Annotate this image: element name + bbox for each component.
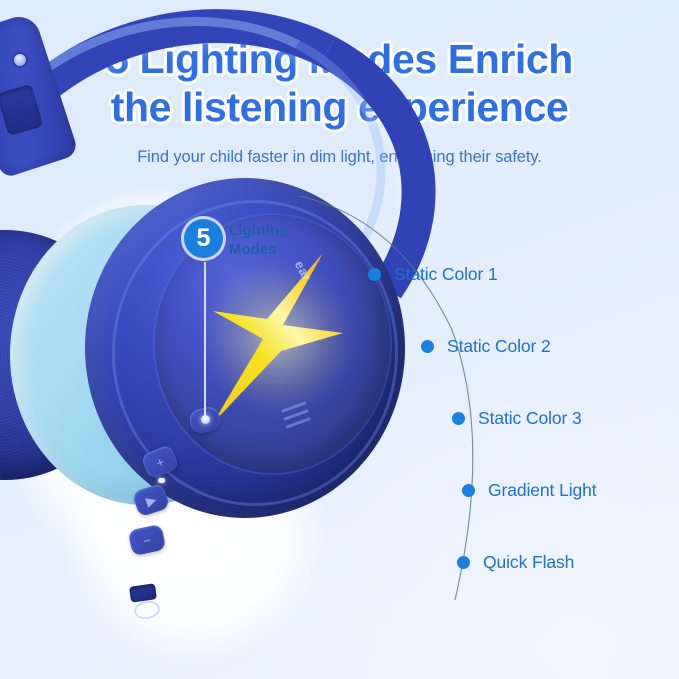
hinge-screw (14, 54, 26, 66)
mode-bullet-icon (368, 268, 381, 281)
mode-label: Quick Flash (483, 552, 574, 573)
list-item: Static Color 1 (368, 264, 498, 285)
mode-bullet-icon (452, 412, 465, 425)
mode-label: Static Color 2 (447, 336, 551, 357)
mode-label: Static Color 3 (478, 408, 582, 429)
mode-bullet-icon (462, 484, 475, 497)
list-item: Static Color 3 (452, 408, 582, 429)
mode-label: Gradient Light (488, 480, 597, 501)
badge-leader-line (204, 262, 206, 417)
mode-bullet-icon (421, 340, 434, 353)
list-item: Quick Flash (457, 552, 574, 573)
infographic-canvas: 5 Lighting Modes Enrich the listening ex… (0, 0, 679, 679)
status-led (158, 478, 165, 483)
lighting-modes-badge-label: Lighting Modes (229, 222, 288, 260)
mode-bullet-icon (457, 556, 470, 569)
list-item: Gradient Light (462, 480, 597, 501)
list-item: Static Color 2 (421, 336, 551, 357)
mode-label: Static Color 1 (394, 264, 498, 285)
lighting-modes-badge: 5 (184, 219, 223, 258)
